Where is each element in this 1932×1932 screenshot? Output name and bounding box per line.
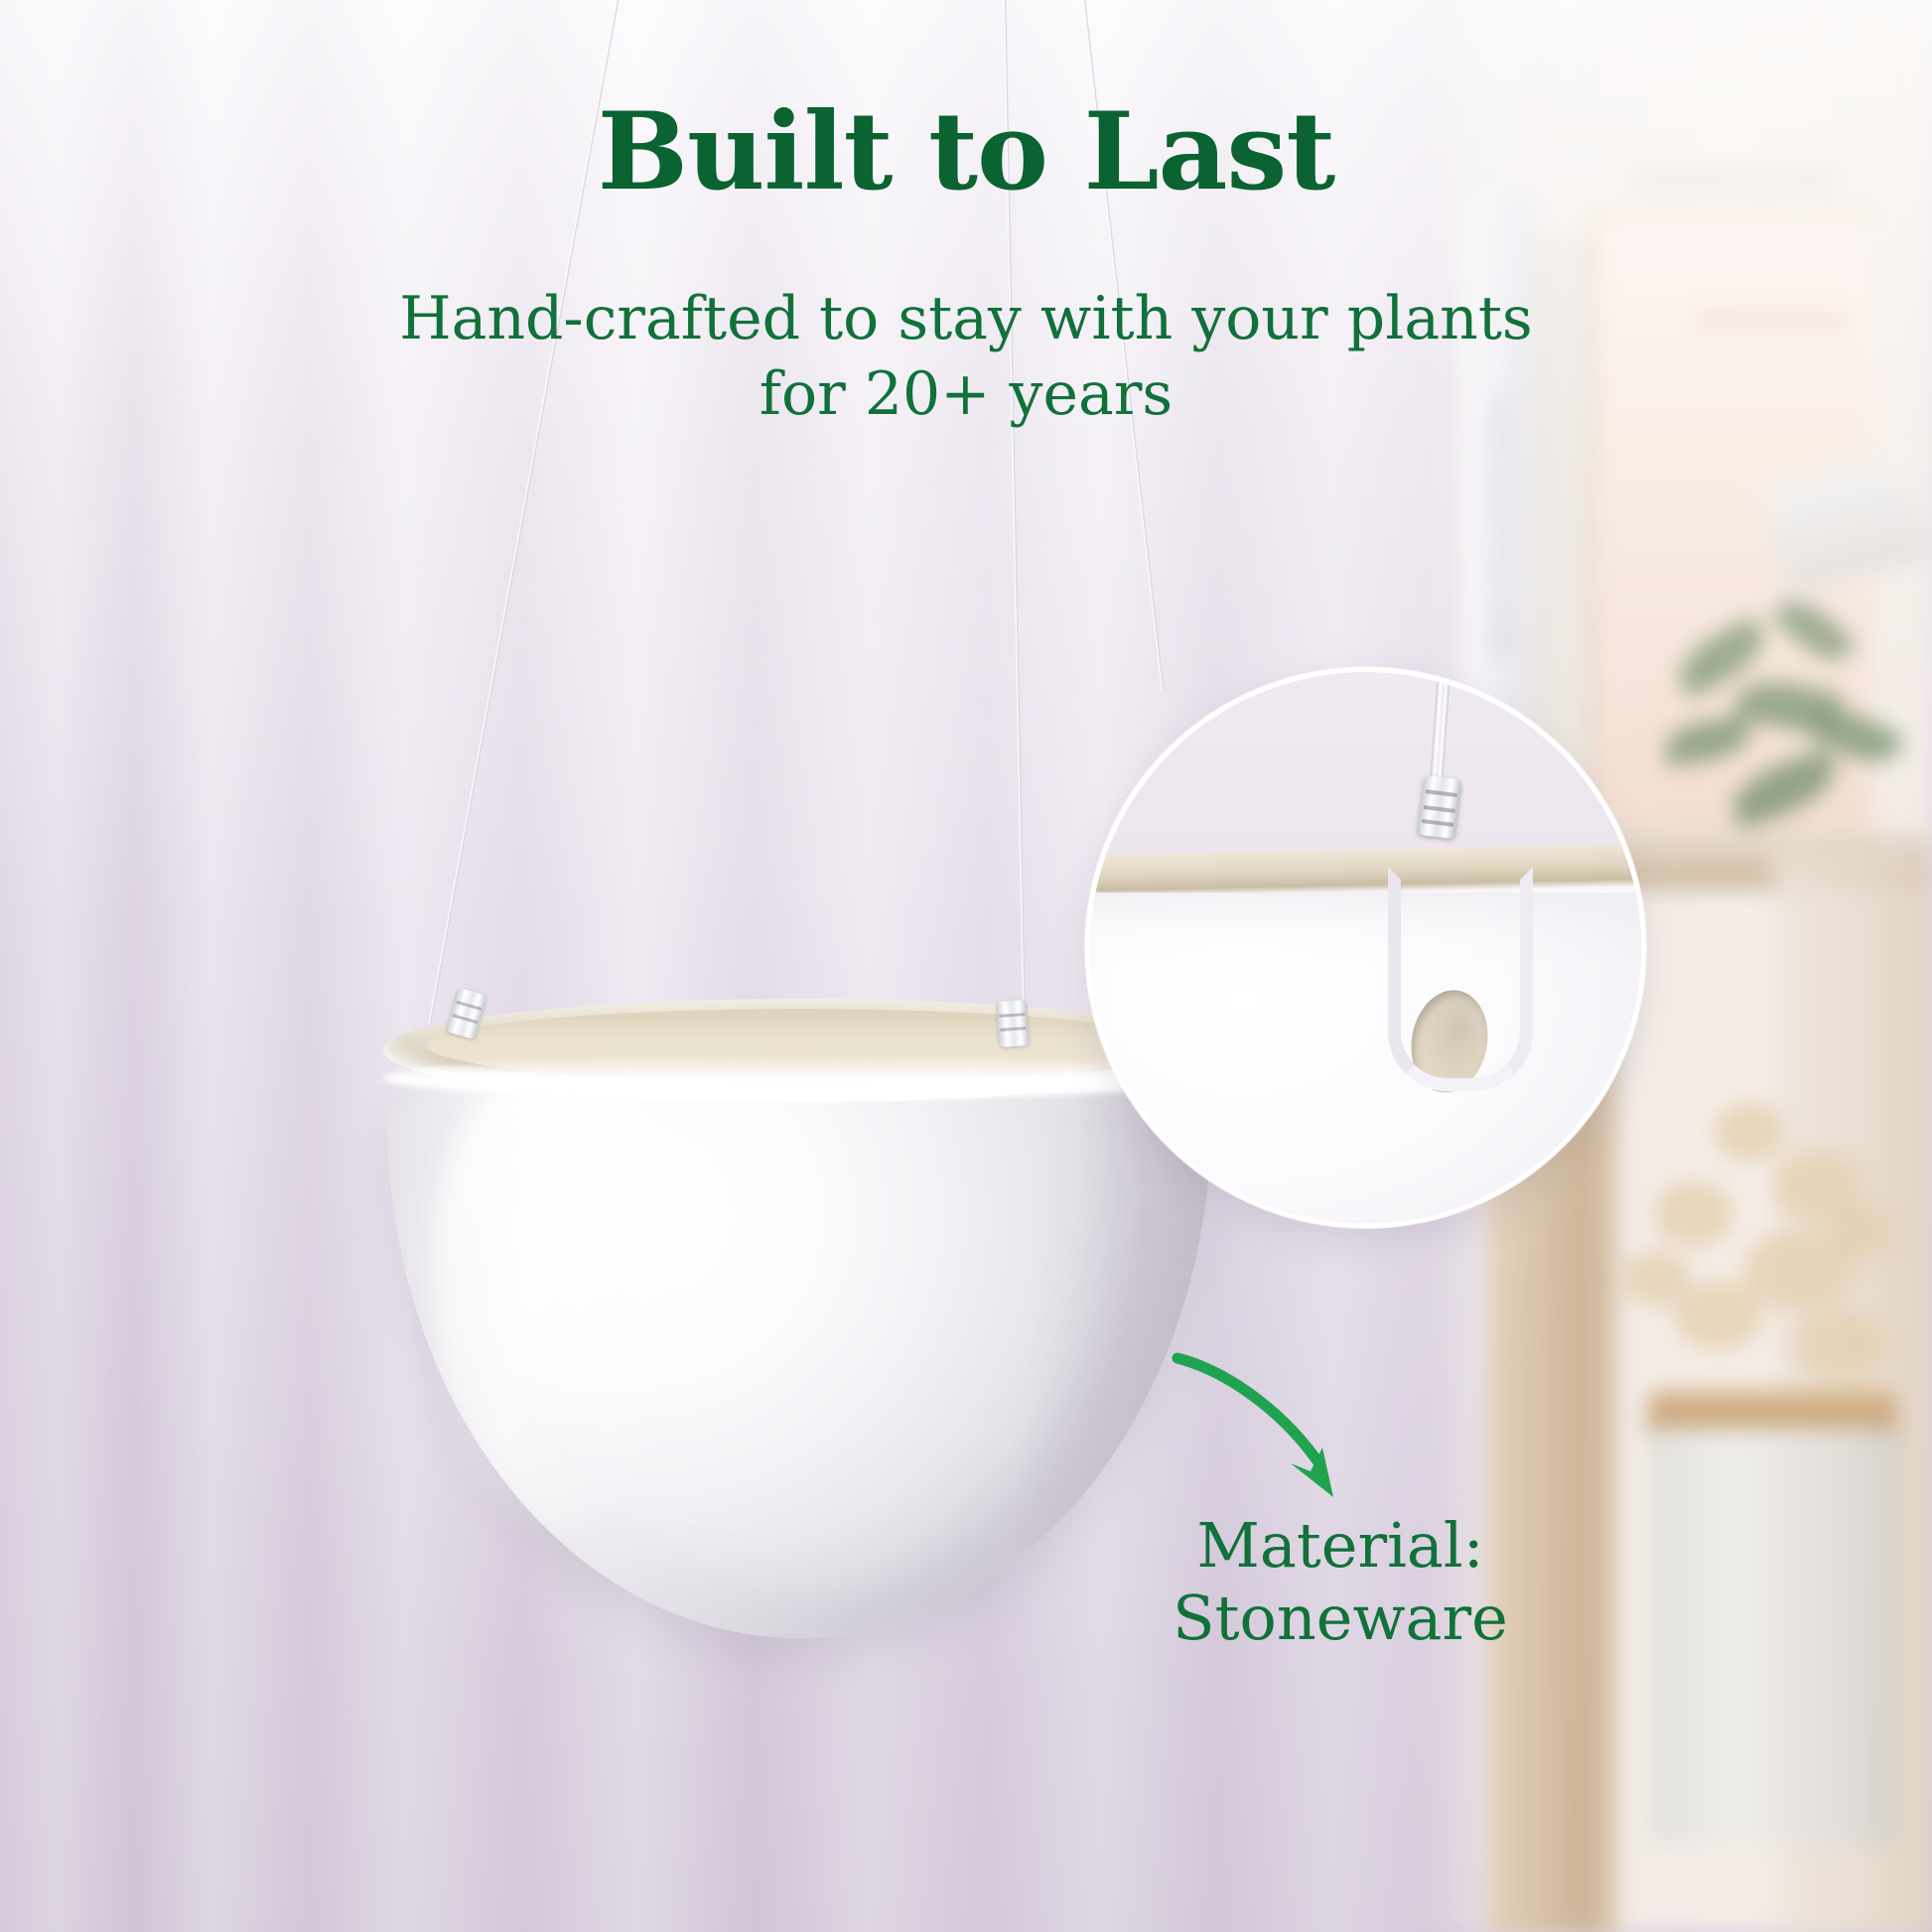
subtitle: Hand-crafted to stay with your plants fo… bbox=[0, 282, 1932, 432]
cable-crimp-mid bbox=[996, 1000, 1029, 1047]
magnified-cable-loop bbox=[1388, 867, 1533, 1091]
subtitle-line-1: Hand-crafted to stay with your plants bbox=[0, 282, 1932, 357]
hanging-planter bbox=[387, 1033, 1211, 1638]
curved-arrow-icon bbox=[1172, 1320, 1410, 1519]
material-callout: Material: Stoneware bbox=[1112, 1509, 1569, 1654]
magnified-cable-crimp bbox=[1417, 775, 1461, 839]
page-title: Built to Last bbox=[0, 95, 1932, 208]
subtitle-line-2: for 20+ years bbox=[0, 357, 1932, 433]
planter-bowl-sheen bbox=[439, 1064, 687, 1531]
material-callout-value: Stoneware bbox=[1112, 1582, 1569, 1654]
magnifier-circle-icon bbox=[1085, 667, 1646, 1228]
product-infographic: MORE BEAUTIFUL HOME bbox=[0, 0, 1932, 1932]
magnified-planter-body bbox=[1085, 893, 1646, 1228]
material-callout-label: Material: bbox=[1112, 1509, 1569, 1582]
